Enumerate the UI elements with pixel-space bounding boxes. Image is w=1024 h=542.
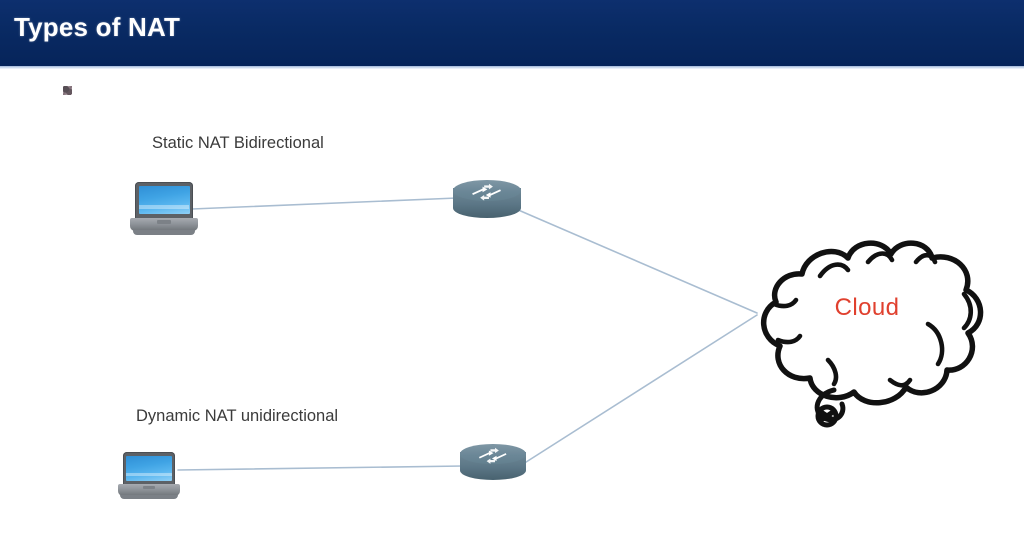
link-laptop-dynamic-router xyxy=(178,466,463,470)
cloud-icon xyxy=(742,232,992,432)
laptop-icon-dynamic xyxy=(118,452,180,504)
cloud-outline xyxy=(764,243,981,403)
router-icon-dynamic xyxy=(460,444,526,488)
laptop-trackpad xyxy=(143,486,155,489)
laptop-screen xyxy=(139,186,190,214)
laptop-screen-glare xyxy=(126,473,172,476)
laptop-icon-static xyxy=(130,182,198,240)
label-static-nat: Static NAT Bidirectional xyxy=(152,134,324,153)
link-laptop-static-router xyxy=(192,198,457,209)
laptop-foot xyxy=(120,495,177,499)
cloud-label: Cloud xyxy=(742,294,992,322)
link-router-static-cloud xyxy=(516,209,757,313)
slide-canvas: Types of NAT Static NAT Bidirectional Dy… xyxy=(0,0,1024,542)
laptop-foot xyxy=(133,230,196,235)
laptop-screen-glare xyxy=(139,205,189,208)
laptop-trackpad xyxy=(157,220,171,223)
laptop-screen xyxy=(126,456,173,481)
router-icon-static xyxy=(453,180,521,226)
router-arrows-icon xyxy=(465,447,520,465)
router-arrows-icon xyxy=(458,183,515,201)
link-router-dynamic-cloud xyxy=(523,315,757,464)
label-dynamic-nat: Dynamic NAT unidirectional xyxy=(136,407,338,426)
